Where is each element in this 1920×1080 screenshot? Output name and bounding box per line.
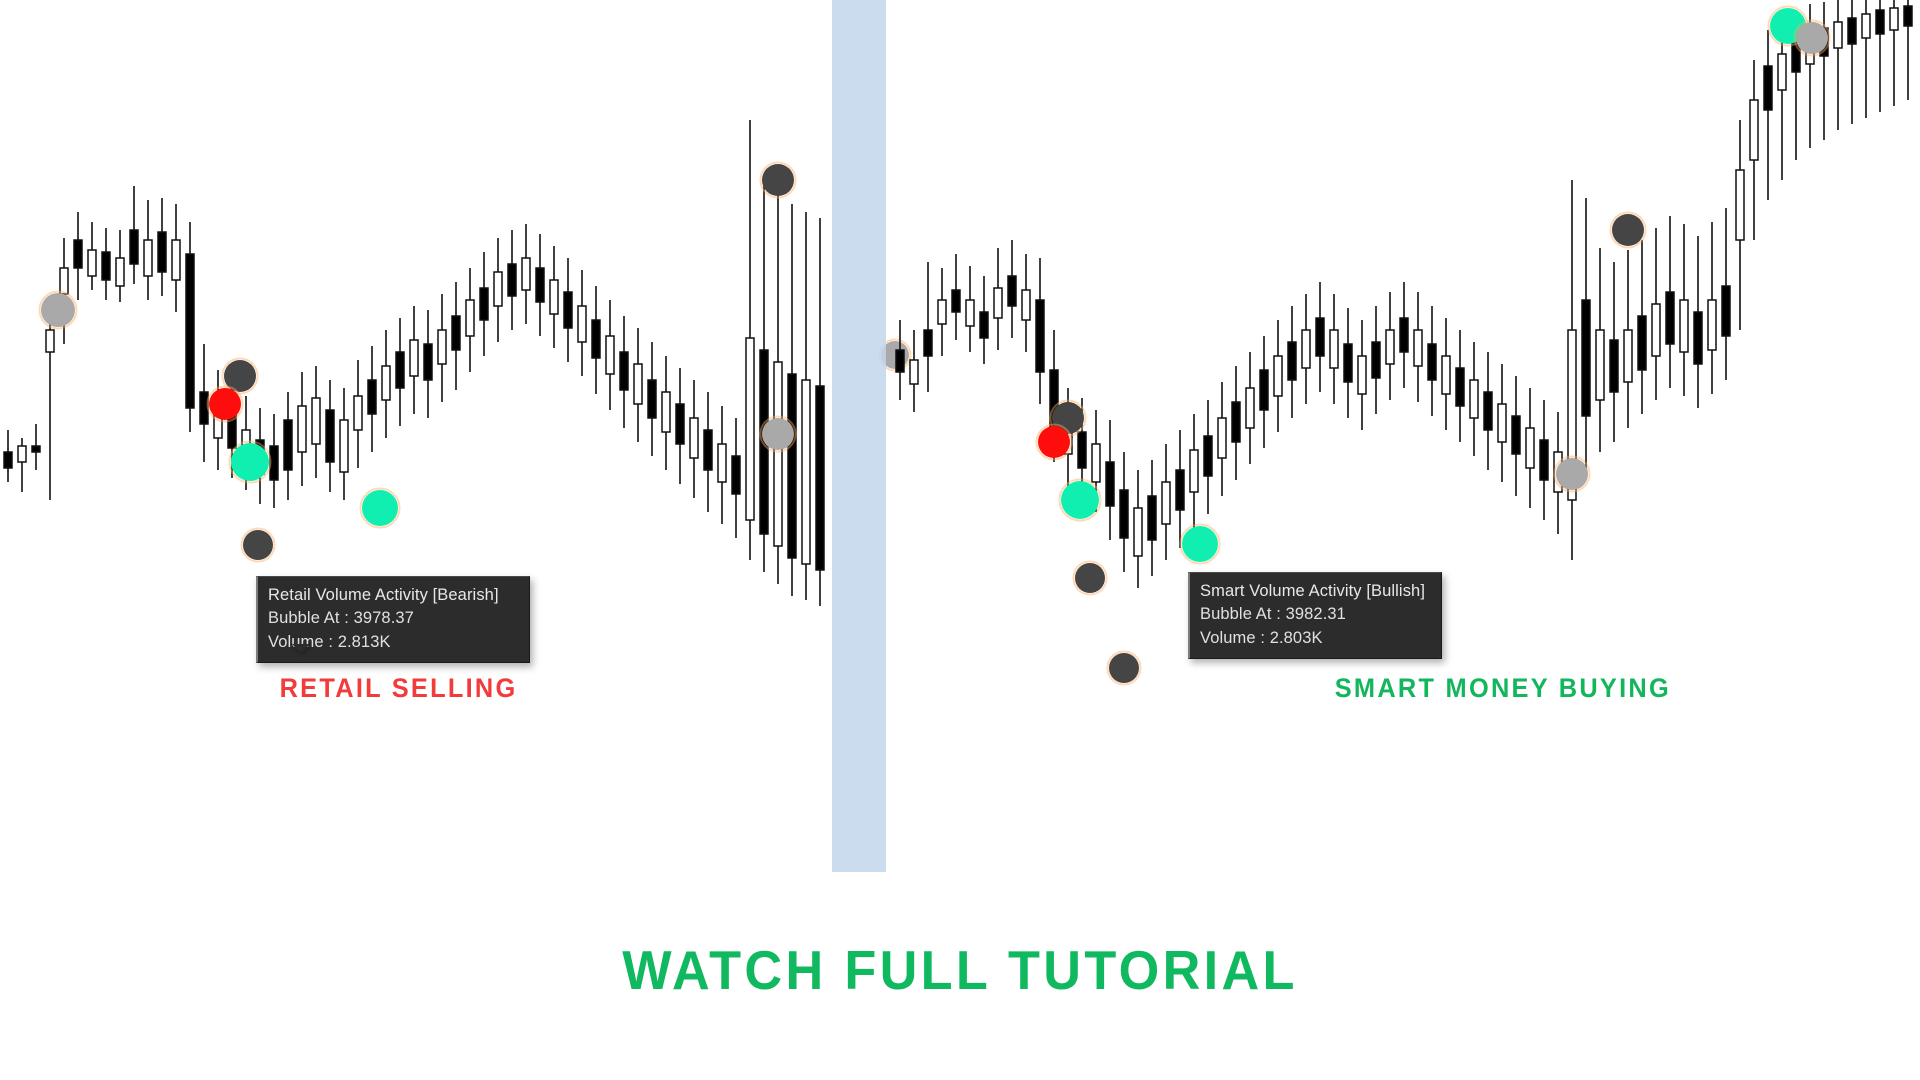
volume-bubble-bullish — [362, 490, 398, 526]
volume-bubble-bearish — [1038, 426, 1070, 458]
tooltip-volume: Volume : 2.803K — [1200, 627, 1429, 650]
tooltip-bubble-at: Bubble At : 3982.31 — [1200, 603, 1429, 626]
volume-bubble-neutral-dark — [762, 164, 794, 196]
volume-bubble-neutral-light — [881, 341, 909, 369]
tooltip-title: Retail Volume Activity [Bearish] — [268, 584, 517, 607]
tooltip-title: Smart Volume Activity [Bullish] — [1200, 580, 1429, 603]
watch-full-tutorial-cta[interactable]: WATCH FULL TUTORIAL — [48, 938, 1872, 1002]
volume-bubble-neutral-light — [1796, 22, 1828, 54]
tooltip-bubble-at: Bubble At : 3978.37 — [268, 607, 517, 630]
volume-bubble-bullish — [1182, 526, 1218, 562]
volume-bubble-bearish — [209, 388, 241, 420]
candlestick-chart[interactable] — [0, 0, 1920, 1080]
smart-money-buying-label: SMART MONEY BUYING — [1335, 673, 1671, 704]
retail-selling-label: RETAIL SELLING — [280, 673, 518, 704]
volume-bubble-neutral-light — [41, 293, 75, 327]
volume-bubble-bullish — [1061, 481, 1099, 519]
screenshot-stage: Retail Volume Activity [Bearish] Bubble … — [0, 0, 1920, 1080]
volume-bubble-neutral-dark — [1109, 653, 1139, 683]
volume-bubble-neutral-light — [1556, 458, 1588, 490]
tooltip-pointer-icon — [292, 644, 310, 653]
smart-volume-tooltip: Smart Volume Activity [Bullish] Bubble A… — [1188, 572, 1442, 659]
volume-bubble-neutral-light — [762, 418, 794, 450]
volume-bubble-neutral-dark — [1075, 563, 1105, 593]
left-chart — [4, 120, 911, 606]
volume-bubble-neutral-dark — [243, 530, 273, 560]
volume-bubble-neutral-dark — [1612, 214, 1644, 246]
volume-bubble-bullish — [231, 443, 269, 481]
